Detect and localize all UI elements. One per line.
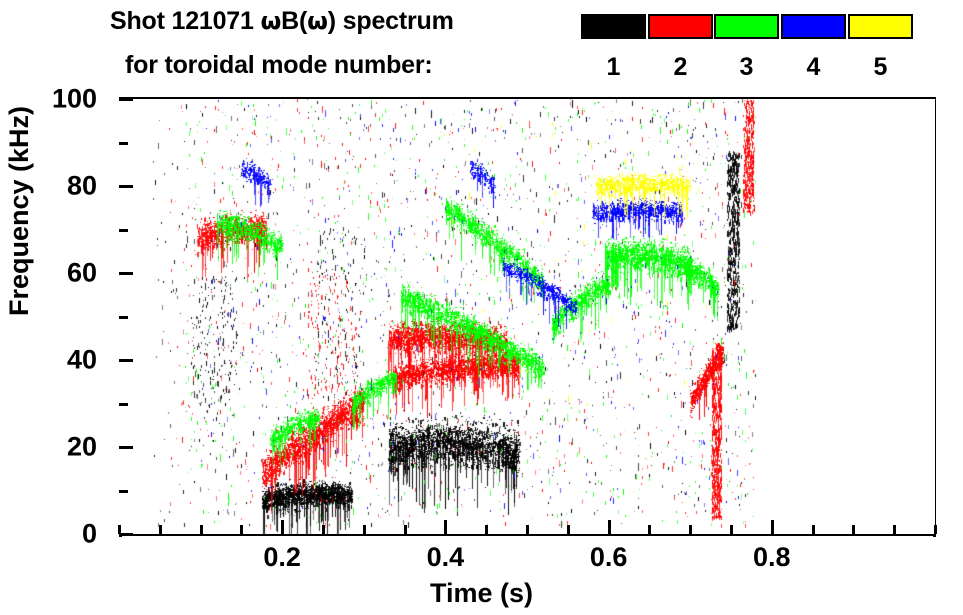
y-tick-90 bbox=[119, 142, 128, 145]
y-tick-60 bbox=[119, 272, 133, 275]
legend-swatch-n5 bbox=[848, 14, 913, 39]
x-tick-0 bbox=[118, 525, 121, 534]
x-tick-0.15 bbox=[240, 525, 243, 534]
y-tick-0 bbox=[119, 533, 133, 536]
legend-label-n3: 3 bbox=[714, 53, 779, 82]
x-tick-label-0.8: 0.8 bbox=[753, 542, 791, 573]
y-tick-40 bbox=[119, 359, 133, 362]
y-tick-10 bbox=[119, 490, 128, 493]
x-axis-title: Time (s) bbox=[0, 578, 963, 609]
legend-label-n2: 2 bbox=[648, 53, 713, 82]
x-tick-0.75 bbox=[730, 525, 733, 534]
x-tick-0.45 bbox=[485, 525, 488, 534]
legend-label-n5: 5 bbox=[848, 53, 913, 82]
x-tick-0.7 bbox=[689, 525, 692, 534]
x-tick-0.2 bbox=[281, 520, 284, 534]
x-tick-1 bbox=[934, 525, 937, 534]
y-tick-label-0: 0 bbox=[0, 519, 97, 550]
x-tick-0.35 bbox=[404, 525, 407, 534]
x-tick-0.6 bbox=[608, 520, 611, 534]
x-tick-0.85 bbox=[812, 525, 815, 534]
spectrogram-canvas bbox=[119, 99, 935, 534]
x-tick-0.05 bbox=[159, 525, 162, 534]
y-axis-title: Frequency (kHz) bbox=[4, 106, 35, 316]
x-tick-0.1 bbox=[200, 525, 203, 534]
x-tick-label-0.6: 0.6 bbox=[590, 542, 628, 573]
legend-label-n4: 4 bbox=[781, 53, 846, 82]
x-tick-0.25 bbox=[322, 525, 325, 534]
legend-swatch-n4 bbox=[781, 14, 846, 39]
x-tick-0.3 bbox=[363, 525, 366, 534]
plot-area bbox=[119, 99, 935, 534]
legend-label-n1: 1 bbox=[581, 53, 646, 82]
figure-root: Shot 121071 ωB(ω) spectrum for toroidal … bbox=[0, 0, 963, 615]
x-tick-label-0.4: 0.4 bbox=[427, 542, 465, 573]
y-tick-20 bbox=[119, 446, 133, 449]
x-tick-0.95 bbox=[893, 525, 896, 534]
legend-swatch-n1 bbox=[581, 14, 646, 39]
x-tick-0.9 bbox=[852, 525, 855, 534]
y-tick-70 bbox=[119, 229, 128, 232]
legend-swatch-n2 bbox=[648, 14, 713, 39]
x-tick-0.8 bbox=[771, 520, 774, 534]
x-tick-0.65 bbox=[648, 525, 651, 534]
y-tick-50 bbox=[119, 316, 128, 319]
y-tick-30 bbox=[119, 403, 128, 406]
y-tick-label-20: 20 bbox=[0, 432, 97, 463]
x-tick-label-0.2: 0.2 bbox=[263, 542, 301, 573]
x-tick-0.5 bbox=[526, 525, 529, 534]
y-tick-80 bbox=[119, 185, 133, 188]
legend-swatch-n3 bbox=[714, 14, 779, 39]
x-tick-0.55 bbox=[567, 525, 570, 534]
legend: 12345 bbox=[0, 0, 963, 95]
y-tick-100 bbox=[119, 98, 133, 101]
y-tick-label-40: 40 bbox=[0, 345, 97, 376]
x-tick-0.4 bbox=[444, 520, 447, 534]
